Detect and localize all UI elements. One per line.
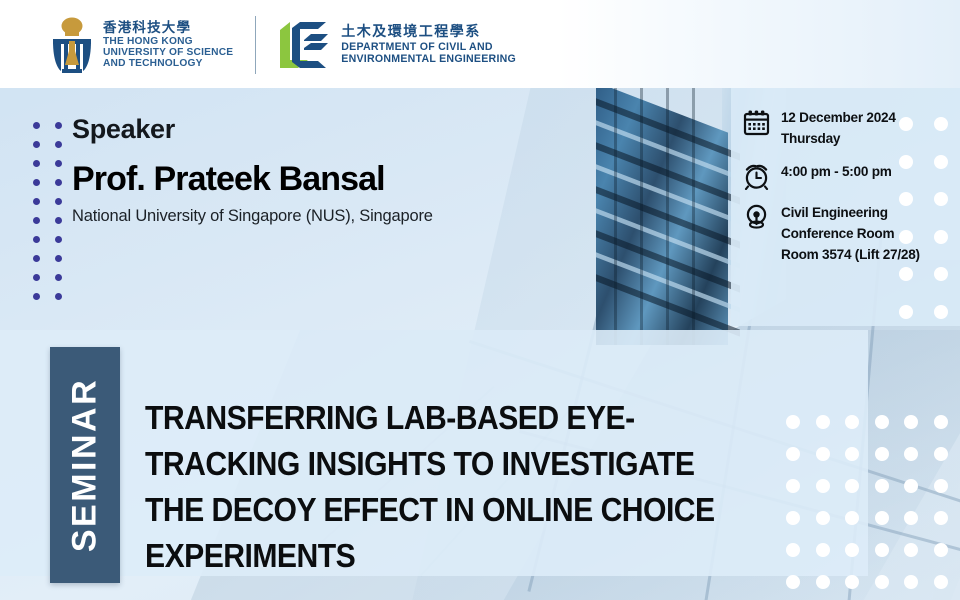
detail-row-time: 4:00 pm - 5:00 pm [743, 162, 943, 190]
tower-mullion [614, 60, 617, 345]
seminar-tab-label: SEMINAR [66, 378, 105, 552]
detail-venue-line1: Civil Engineering [781, 203, 920, 224]
hkust-name-en-2: UNIVERSITY OF SCIENCE [103, 47, 233, 58]
tower-mullion [692, 60, 695, 345]
hkust-logo: 香港科技大學 THE HONG KONG UNIVERSITY OF SCIEN… [50, 17, 233, 73]
detail-text-venue: Civil Engineering Conference Room Room 3… [781, 203, 920, 265]
detail-text-time: 4:00 pm - 5:00 pm [781, 162, 892, 190]
detail-row-venue: Civil Engineering Conference Room Room 3… [743, 203, 943, 265]
speaker-text-block: Speaker Prof. Prateek Bansal National Un… [72, 114, 433, 226]
speaker-section: Speaker Prof. Prateek Bansal National Un… [0, 88, 600, 328]
seminar-poster: 香港科技大學 THE HONG KONG UNIVERSITY OF SCIEN… [0, 0, 960, 600]
calendar-icon [743, 109, 770, 136]
detail-text-date: 12 December 2024 Thursday [781, 108, 896, 149]
detail-date-line2: Thursday [781, 129, 896, 150]
cee-wordmark: 土木及環境工程學系 DEPARTMENT OF CIVIL AND ENVIRO… [341, 25, 516, 66]
cee-logo: 土木及環境工程學系 DEPARTMENT OF CIVIL AND ENVIRO… [278, 20, 516, 70]
tower-mullion [640, 60, 643, 345]
speaker-affiliation: National University of Singapore (NUS), … [72, 207, 433, 226]
cee-name-cn: 土木及環境工程學系 [341, 25, 516, 40]
seminar-tab: SEMINAR [50, 347, 120, 583]
seminar-title: TRANSFERRING LAB-BASED EYE-TRACKING INSI… [145, 396, 730, 580]
hkust-wordmark: 香港科技大學 THE HONG KONG UNIVERSITY OF SCIEN… [103, 21, 233, 70]
detail-row-date: 12 December 2024 Thursday [743, 108, 943, 149]
decorative-dot-grid [33, 122, 77, 300]
tower-mullion [666, 60, 669, 345]
logo-row: 香港科技大學 THE HONG KONG UNIVERSITY OF SCIEN… [50, 14, 516, 76]
hkust-name-en-1: THE HONG KONG [103, 36, 233, 47]
detail-date-line1: 12 December 2024 [781, 108, 896, 129]
detail-venue-line2: Conference Room [781, 224, 920, 245]
header-band: 香港科技大學 THE HONG KONG UNIVERSITY OF SCIEN… [0, 0, 960, 88]
speaker-label: Speaker [72, 114, 433, 145]
location-pin-icon [743, 204, 770, 231]
hkust-name-en-3: AND TECHNOLOGY [103, 58, 233, 69]
hkust-name-cn: 香港科技大學 [103, 21, 233, 36]
hkust-crest-icon [50, 17, 94, 73]
alarm-clock-icon [743, 163, 770, 190]
detail-venue-line3: Room 3574 (Lift 27/28) [781, 245, 920, 266]
detail-time-line1: 4:00 pm - 5:00 pm [781, 162, 892, 183]
speaker-name: Prof. Prateek Bansal [72, 162, 433, 198]
cee-name-en-1: DEPARTMENT OF CIVIL AND [341, 42, 516, 54]
bottom-dot-grid [782, 406, 960, 600]
cee-monogram-icon [278, 20, 330, 70]
cee-name-en-2: ENVIRONMENTAL ENGINEERING [341, 54, 516, 66]
event-details-list: 12 December 2024 Thursday 4:00 pm - 5:00… [743, 108, 943, 278]
logo-divider [255, 16, 256, 74]
